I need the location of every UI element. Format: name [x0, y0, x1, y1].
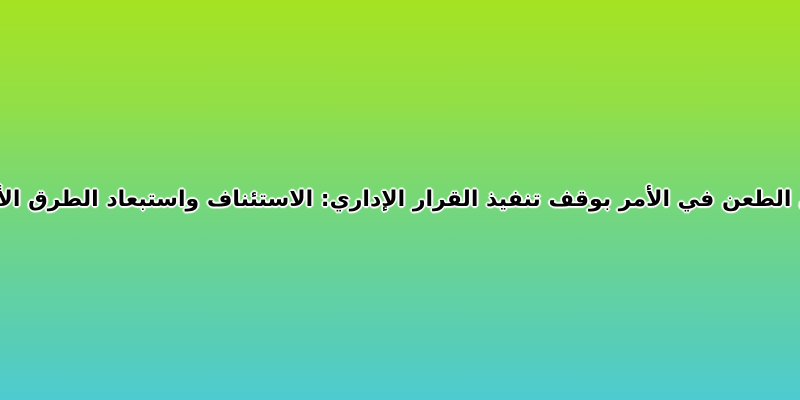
banner-headline: طرق الطعن في الأمر بوقف تنفيذ القرار الإ…	[0, 185, 800, 215]
gradient-banner: طرق الطعن في الأمر بوقف تنفيذ القرار الإ…	[0, 0, 800, 400]
headline-container: طرق الطعن في الأمر بوقف تنفيذ القرار الإ…	[0, 178, 800, 222]
